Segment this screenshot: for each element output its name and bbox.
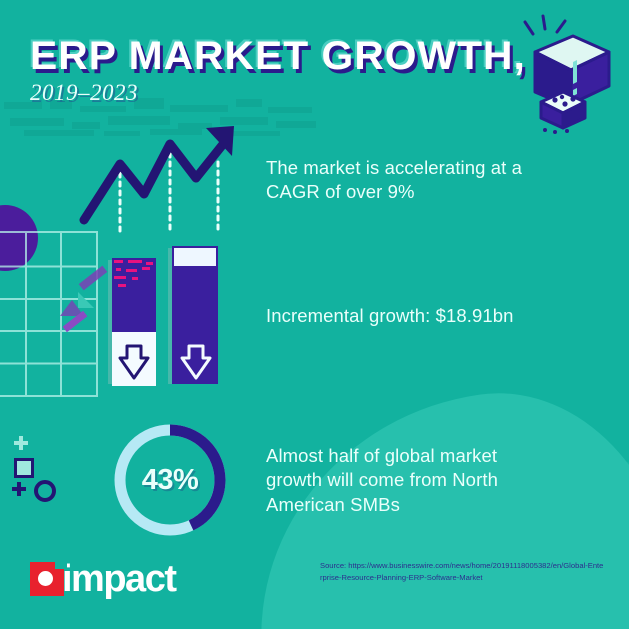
callout-cagr: The market is accelerating at a CAGR of … [266, 156, 556, 205]
logo-text: impact [62, 560, 175, 598]
header: ERP MARKET GROWTH, 2019–2023 [30, 36, 516, 106]
growth-trend-line-chart [78, 122, 253, 237]
impact-logo: impact [30, 560, 175, 598]
callout-north-american-smbs: Almost half of global market growth will… [266, 444, 556, 517]
incremental-growth-bar-chart [104, 246, 224, 388]
page-subtitle: 2019–2023 [30, 80, 516, 106]
page-title: ERP MARKET GROWTH, [30, 36, 526, 76]
dice-icon [533, 88, 593, 134]
decorative-mini-shapes [14, 436, 66, 498]
icon-cluster [515, 12, 625, 130]
source-citation: Source: https://www.businesswire.com/new… [320, 560, 605, 584]
logo-notch [55, 557, 67, 569]
callout-incremental-growth: Incremental growth: $18.91bn [266, 304, 566, 328]
logo-mark-icon [30, 562, 64, 596]
donut-value-label: 43% [108, 418, 232, 542]
decorative-triangle-2 [78, 292, 94, 308]
logo-dot [38, 571, 53, 586]
infographic-canvas: ERP MARKET GROWTH, 2019–2023 [0, 0, 629, 629]
